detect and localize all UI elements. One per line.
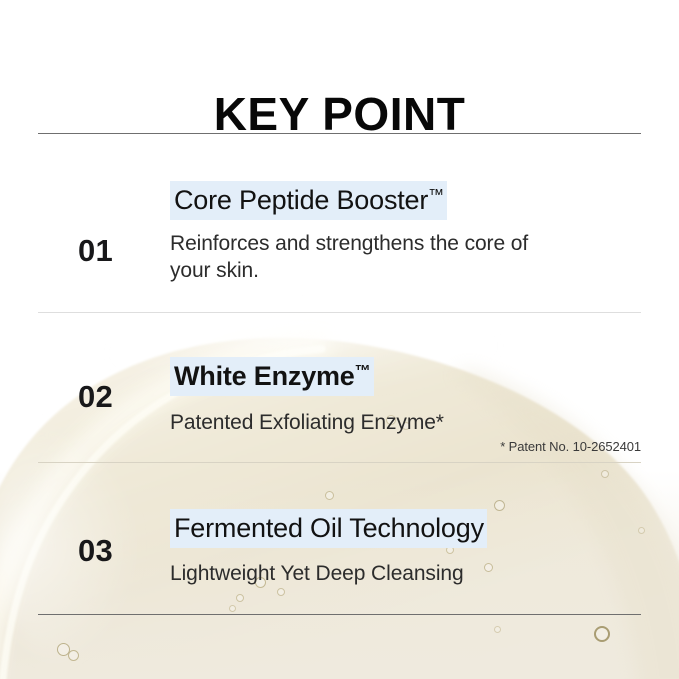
point-title-wrap-03: Fermented Oil Technology — [170, 504, 649, 548]
point-title-text-02: White Enzyme — [174, 361, 355, 391]
point-title-text-03: Fermented Oil Technology — [174, 513, 484, 543]
point-body-03: Fermented Oil Technology Lightweight Yet… — [170, 504, 649, 587]
divider-after-point-01 — [38, 312, 641, 313]
point-title-02: White Enzyme™ — [170, 357, 374, 396]
point-body-01: Core Peptide Booster™ Reinforces and str… — [170, 176, 649, 284]
point-title-wrap-02: White Enzyme™ — [170, 352, 649, 396]
divider-after-point-02 — [38, 462, 641, 463]
divider-bottom — [38, 614, 641, 615]
divider-top — [38, 133, 641, 134]
key-point-infographic: KEY POINT 01 Core Peptide Booster™ Reinf… — [0, 0, 679, 679]
point-number-01: 01 — [78, 234, 113, 268]
point-title-wrap-01: Core Peptide Booster™ — [170, 176, 649, 220]
point-number-03: 03 — [78, 534, 113, 568]
point-title-01: Core Peptide Booster™ — [170, 181, 447, 220]
page-title: KEY POINT — [0, 88, 679, 140]
trademark-symbol-01: ™ — [428, 187, 444, 204]
point-body-02: White Enzyme™ Patented Exfoliating Enzym… — [170, 352, 649, 436]
point-title-text-01: Core Peptide Booster — [174, 185, 428, 215]
point-description-02: Patented Exfoliating Enzyme* — [170, 409, 630, 436]
patent-footnote: * Patent No. 10-2652401 — [500, 438, 641, 455]
point-number-02: 02 — [78, 380, 113, 414]
trademark-symbol-02: ™ — [355, 363, 371, 380]
point-description-01: Reinforces and strengthens the core of y… — [170, 230, 570, 284]
point-title-03: Fermented Oil Technology — [170, 509, 487, 548]
point-description-03: Lightweight Yet Deep Cleansing — [170, 560, 630, 587]
